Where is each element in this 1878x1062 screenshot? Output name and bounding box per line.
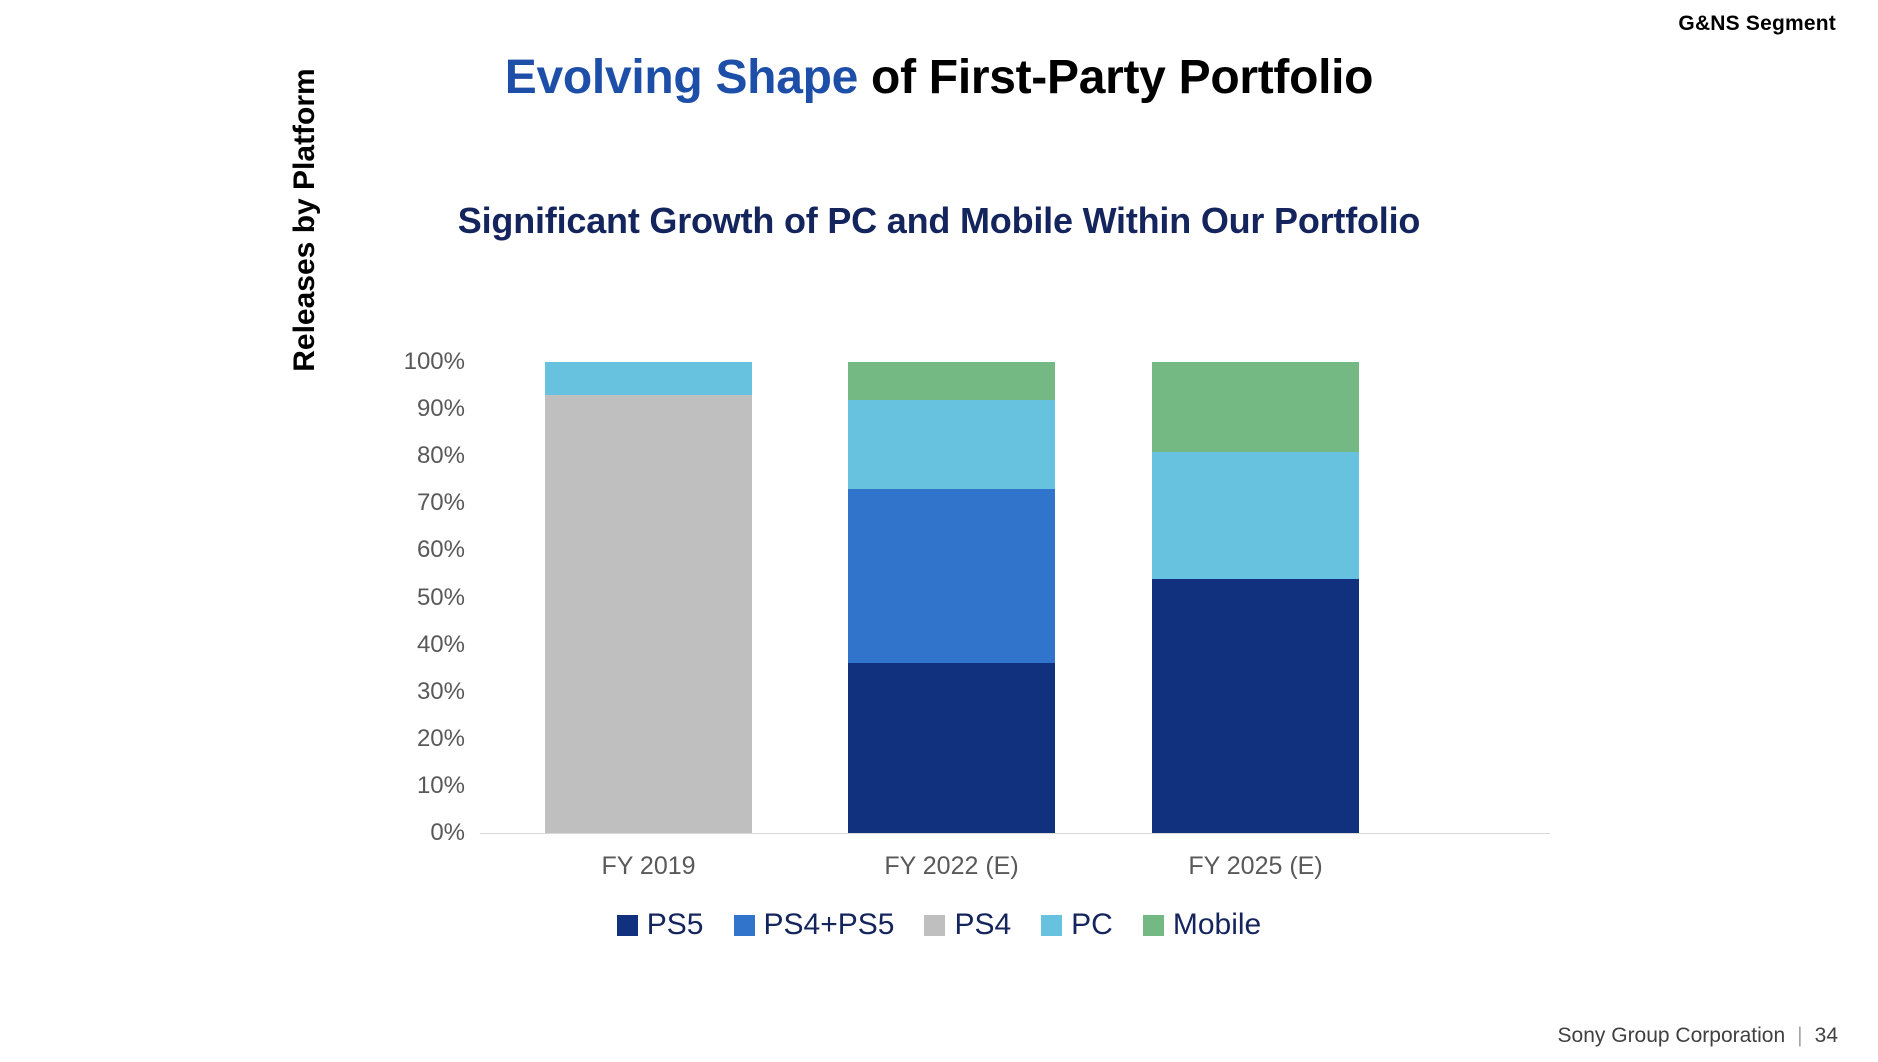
- bar-segment-pc[interactable]: [545, 362, 752, 395]
- x-axis-line: [480, 833, 1550, 834]
- legend-label: Mobile: [1173, 908, 1261, 942]
- bar-segment-ps5[interactable]: [848, 663, 1055, 833]
- x-axis-tick-1: FY 2022 (E): [792, 852, 1112, 881]
- legend-item-ps4-ps5[interactable]: PS4+PS5: [734, 908, 895, 942]
- legend-swatch-icon: [1143, 915, 1164, 936]
- x-axis-tick-0: FY 2019: [489, 852, 809, 881]
- bar-fy-2025-e[interactable]: [1152, 362, 1359, 833]
- y-axis-tick-40: 40%: [385, 631, 465, 659]
- y-axis-tick-20: 20%: [385, 725, 465, 753]
- bar-segment-ps5[interactable]: [1152, 579, 1359, 833]
- bar-fy-2022-e[interactable]: [848, 362, 1055, 833]
- footer-page-number: 34: [1815, 1024, 1838, 1048]
- legend-item-pc[interactable]: PC: [1041, 908, 1113, 942]
- x-axis-tick-labels: FY 2019FY 2022 (E)FY 2025 (E): [480, 852, 1550, 892]
- y-axis-tick-100: 100%: [385, 348, 465, 376]
- x-axis-tick-2: FY 2025 (E): [1096, 852, 1416, 881]
- y-axis-tick-60: 60%: [385, 536, 465, 564]
- legend-swatch-icon: [617, 915, 638, 936]
- y-axis-tick-70: 70%: [385, 489, 465, 517]
- legend-label: PS4+PS5: [764, 908, 895, 942]
- y-axis-tick-50: 50%: [385, 584, 465, 612]
- plot-area: [480, 362, 1550, 833]
- legend-swatch-icon: [924, 915, 945, 936]
- chart-legend: PS5PS4+PS5PS4PCMobile: [0, 908, 1878, 942]
- bar-fy-2019[interactable]: [545, 362, 752, 833]
- bar-segment-mobile[interactable]: [1152, 362, 1359, 451]
- stacked-bar-chart: Releases by Platform 0%10%20%30%40%50%60…: [0, 0, 1878, 1062]
- y-axis-tick-labels: 0%10%20%30%40%50%60%70%80%90%100%: [385, 362, 465, 833]
- footer-company: Sony Group Corporation: [1558, 1024, 1786, 1048]
- y-axis-tick-90: 90%: [385, 395, 465, 423]
- legend-label: PC: [1071, 908, 1113, 942]
- footer-separator: |: [1797, 1024, 1802, 1048]
- legend-swatch-icon: [1041, 915, 1062, 936]
- y-axis-tick-0: 0%: [385, 819, 465, 847]
- bar-segment-pc[interactable]: [848, 400, 1055, 489]
- legend-item-mobile[interactable]: Mobile: [1143, 908, 1261, 942]
- bar-segment-pc[interactable]: [1152, 452, 1359, 579]
- y-axis-tick-80: 80%: [385, 442, 465, 470]
- y-axis-title: Releases by Platform: [285, 20, 325, 420]
- legend-label: PS5: [647, 908, 704, 942]
- legend-label: PS4: [954, 908, 1011, 942]
- legend-swatch-icon: [734, 915, 755, 936]
- bar-segment-ps4-ps5[interactable]: [848, 489, 1055, 663]
- legend-item-ps4[interactable]: PS4: [924, 908, 1011, 942]
- footer: Sony Group Corporation | 34: [1558, 1024, 1838, 1048]
- legend-item-ps5[interactable]: PS5: [617, 908, 704, 942]
- bar-segment-mobile[interactable]: [848, 362, 1055, 400]
- bar-segment-ps4[interactable]: [545, 395, 752, 833]
- y-axis-tick-10: 10%: [385, 772, 465, 800]
- y-axis-tick-30: 30%: [385, 678, 465, 706]
